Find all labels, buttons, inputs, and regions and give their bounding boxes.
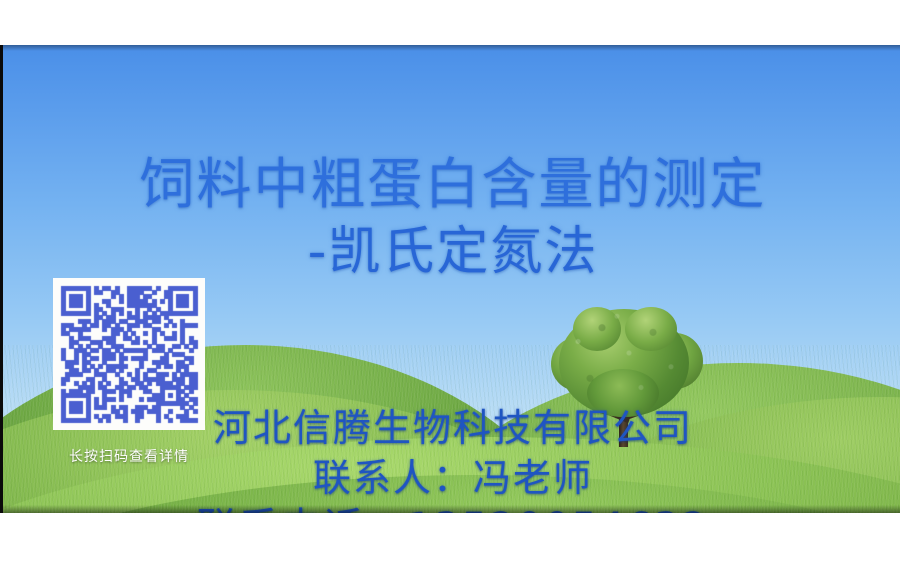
- contact-person: 联系人：冯老师: [3, 453, 900, 503]
- stage-bottom-shade: [3, 505, 900, 513]
- slide-title-block: 饲料中粗蛋白含量的测定 -凯氏定氮法: [3, 149, 900, 285]
- company-info-block: 河北信腾生物科技有限公司 联系人：冯老师 联系电话：13520054632: [3, 403, 900, 513]
- screenshot-root: 饲料中粗蛋白含量的测定 -凯氏定氮法 长按扫码查看详情 河北信腾生物科技有限公司…: [0, 0, 900, 561]
- company-name: 河北信腾生物科技有限公司: [3, 403, 900, 453]
- stage-top-shade: [3, 45, 900, 51]
- page-subtitle: -凯氏定氮法: [3, 219, 900, 285]
- page-title: 饲料中粗蛋白含量的测定: [3, 149, 900, 219]
- video-player-stage[interactable]: 饲料中粗蛋白含量的测定 -凯氏定氮法 长按扫码查看详情 河北信腾生物科技有限公司…: [0, 45, 900, 513]
